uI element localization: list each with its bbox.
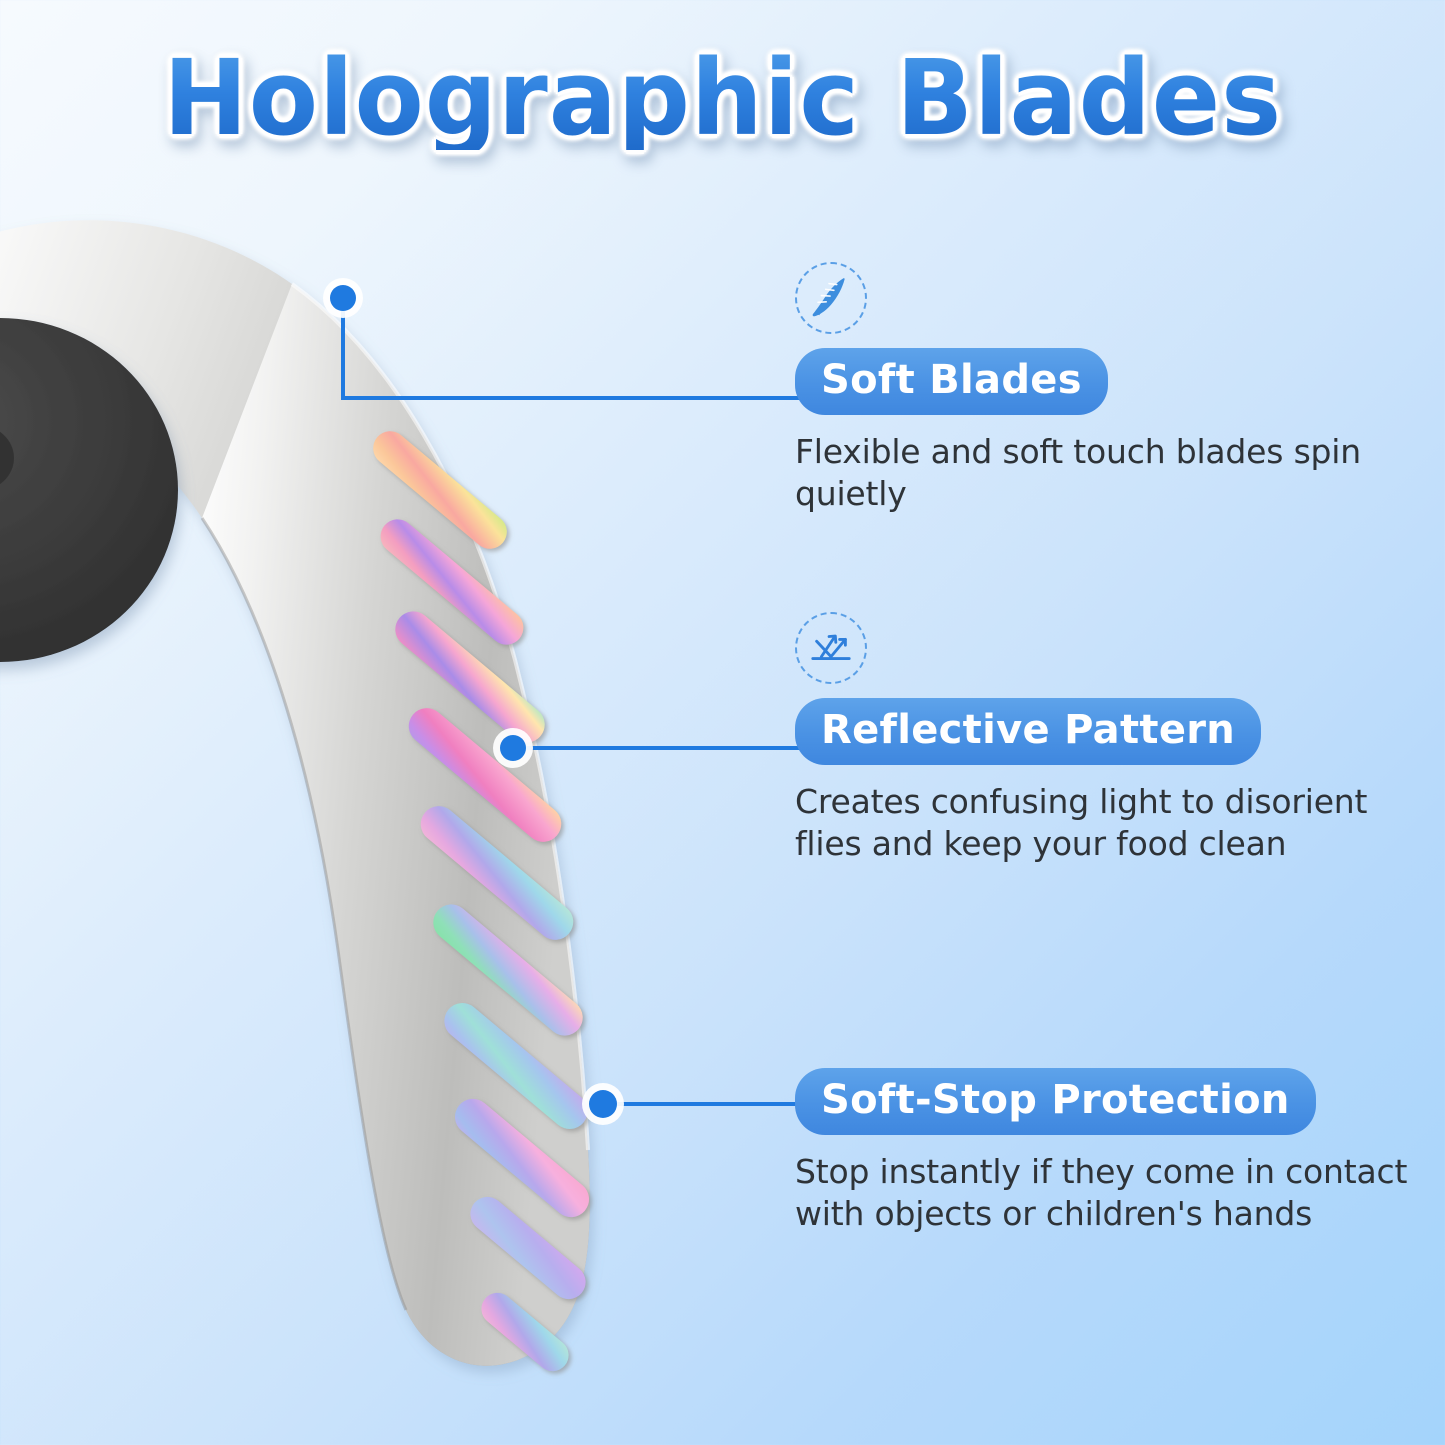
page-title: Holographic Blades [163,46,1282,150]
feature-title-soft-blades: Soft Blades [795,348,1108,415]
product-image [0,190,700,1445]
feature-callout-soft-stop-protection: Soft-Stop Protection Stop instantly if t… [795,1068,1415,1234]
feature-description-soft-stop-protection: Stop instantly if they come in contact w… [795,1151,1415,1234]
title-banner: Holographic Blades [0,46,1445,150]
feature-description-soft-blades: Flexible and soft touch blades spin quie… [795,431,1415,514]
light-reflection-icon [795,612,867,684]
feature-callout-soft-blades: Soft Blades Flexible and soft touch blad… [795,262,1415,514]
feature-title-soft-stop-protection: Soft-Stop Protection [795,1068,1316,1135]
feature-callout-reflective-pattern: Reflective Pattern Creates confusing lig… [795,612,1415,864]
feather-icon [795,262,867,334]
feature-description-reflective-pattern: Creates confusing light to disorient fli… [795,781,1415,864]
feature-title-reflective-pattern: Reflective Pattern [795,698,1261,765]
